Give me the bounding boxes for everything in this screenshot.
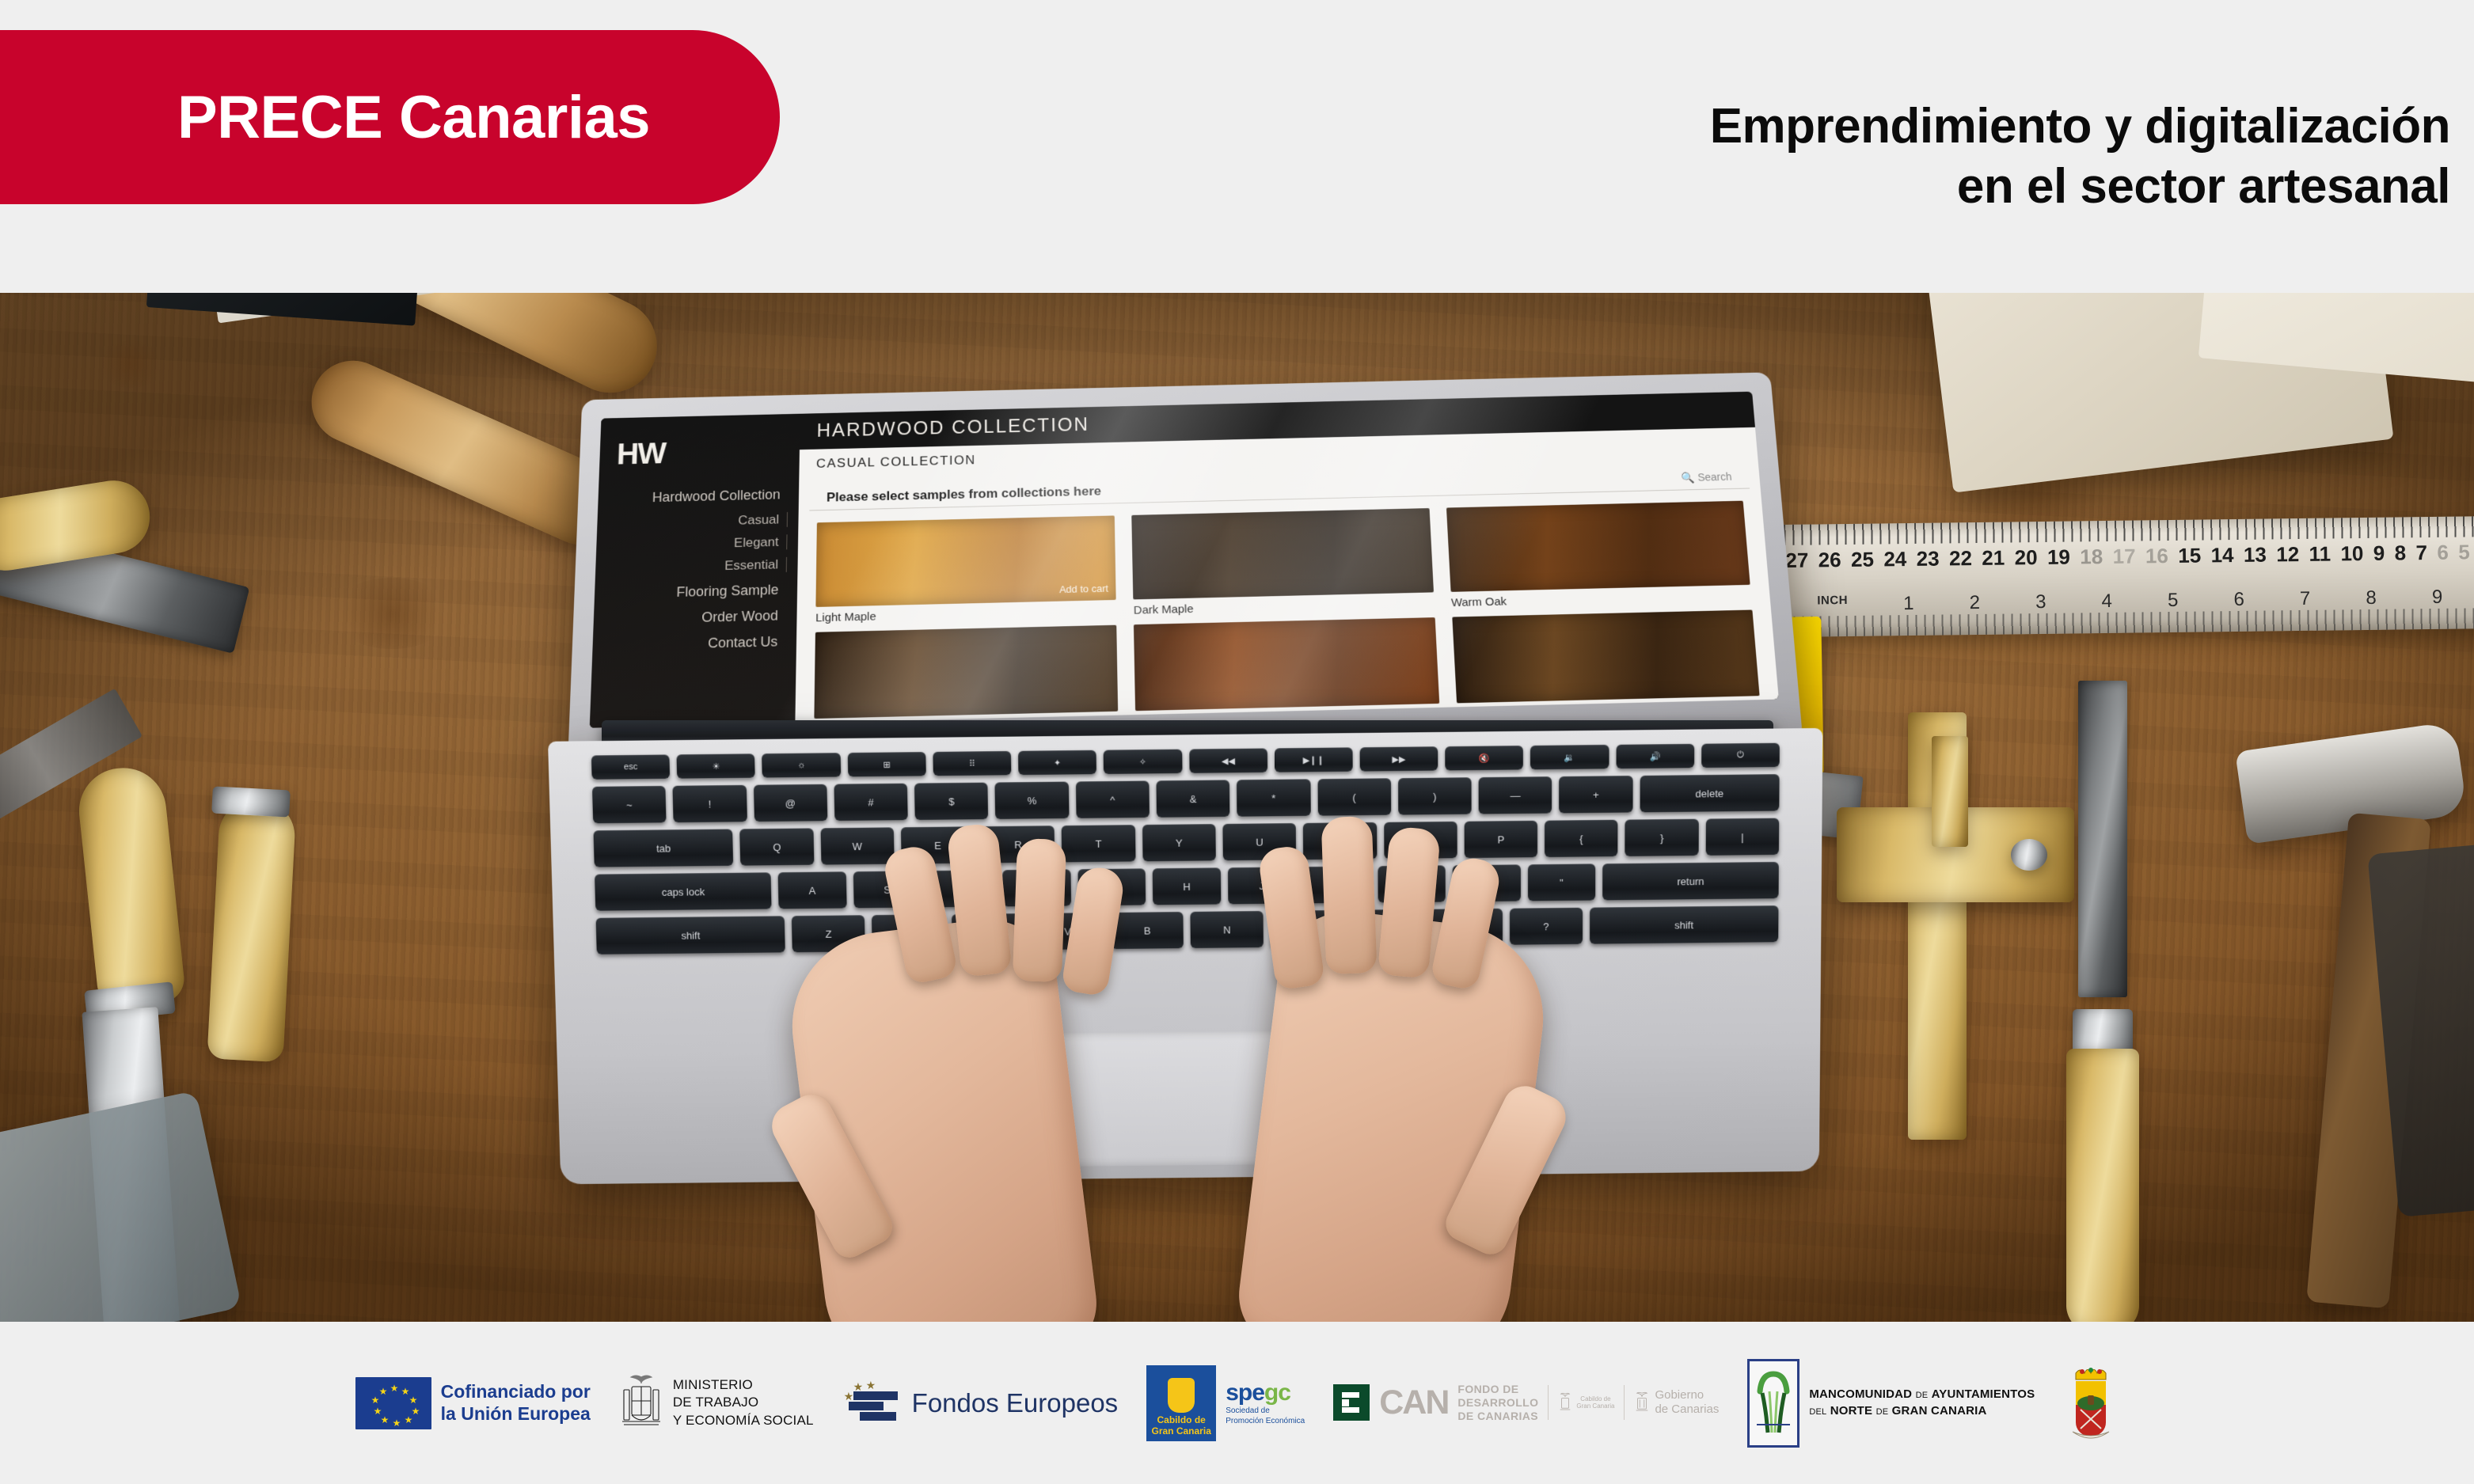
spegc-text: spegc Sociedad de Promoción Económica [1226, 1380, 1305, 1426]
mancomunidad-l2a: DEL [1809, 1407, 1826, 1417]
keyboard-bottom-row: shift Z X C V B N M < > ? shift [596, 905, 1779, 955]
key-backslash[interactable]: | [1705, 818, 1779, 856]
ruler-cm-tick: 22 [1949, 546, 1972, 571]
chisel-handle-right [2066, 1049, 2139, 1322]
key-q[interactable]: Q [739, 828, 814, 865]
eu-logo-line1: Cofinanciado por [441, 1381, 591, 1403]
sample-label: Warm Oak [1451, 590, 1752, 609]
key-6[interactable]: ^ [1076, 780, 1150, 818]
left-hand-finger [1013, 838, 1066, 982]
site-instruction: Please select samples from collections h… [827, 484, 1101, 505]
fdcan-mini1: Cabildo de [1576, 1395, 1614, 1402]
key-return[interactable]: return [1602, 862, 1779, 901]
key-f12-volume-up-icon[interactable]: 🔊 [1616, 744, 1694, 769]
key-quote[interactable]: " [1527, 863, 1595, 901]
mancomunidad-l2c: DE [1876, 1407, 1889, 1417]
key-1[interactable]: ! [673, 785, 747, 822]
brand-badge: PRECE Canarias [0, 30, 780, 204]
key-f11-volume-down-icon[interactable]: 🔉 [1530, 745, 1609, 769]
cabildo-gran-canaria-icon: Cabildo de Gran Canaria [1146, 1365, 1216, 1441]
ruler-cm-tick: 11 [2309, 542, 2331, 567]
ruler-cm-tick: 17 [2112, 545, 2135, 569]
gobierno-canarias-text: Gobierno de Canarias [1655, 1388, 1719, 1417]
ruler-cm-tick: 7 [2415, 541, 2427, 565]
key-2[interactable]: @ [753, 784, 827, 822]
sample-label: Ash [1457, 700, 1761, 721]
logo-escudo-municipal [2063, 1364, 2119, 1443]
page-title: Emprendimiento y digitalización en el se… [1184, 97, 2450, 216]
ruler-inch-tick: 2 [1969, 592, 1980, 614]
mancomunidad-l1c: AYUNTAMIENTOS [1932, 1387, 2035, 1401]
poster-page: PRECE Canarias Emprendimiento y digitali… [0, 0, 2474, 1484]
fdcan-subtext: FONDO DE DESARROLLO DE CANARIAS [1457, 1383, 1538, 1422]
dragon-tree-icon [1755, 1368, 1792, 1437]
sample-card[interactable]: Ash [1452, 610, 1761, 722]
key-f9-forward-icon[interactable]: ▶▶ [1360, 746, 1438, 771]
key-equal[interactable]: + [1559, 776, 1632, 813]
spegc-gc: gc [1264, 1380, 1290, 1406]
page-title-line2: en el sector artesanal [1184, 157, 2450, 217]
mancomunidad-l2b: NORTE [1830, 1404, 1873, 1418]
key-f4-launchpad-icon[interactable]: ⠿ [933, 751, 1011, 776]
keyboard-qwerty-row: tab Q W E R T Y U I O P { } | [593, 818, 1779, 867]
fdcan-sub2: DESARROLLO [1457, 1396, 1538, 1410]
search-input[interactable]: 🔍 Search [1681, 470, 1732, 484]
search-icon: 🔍 [1681, 471, 1695, 483]
sample-card[interactable]: Dark Maple [1132, 508, 1435, 617]
ministerio-line2: DE TRABAJO [673, 1394, 814, 1411]
ruler-cm-tick: 21 [1982, 546, 2005, 571]
fdcan-sub1: FONDO DE [1457, 1383, 1538, 1396]
key-3[interactable]: # [834, 784, 908, 821]
key-power-icon[interactable]: ⏻ [1701, 743, 1780, 768]
gobierno-canarias-block: Gobierno de Canarias [1634, 1388, 1719, 1417]
key-7[interactable]: & [1156, 780, 1229, 817]
right-hand-finger [1321, 816, 1378, 974]
add-to-cart-button[interactable]: Add to cart [1059, 583, 1108, 595]
brand-badge-label: PRECE Canarias [177, 83, 650, 152]
ruler-cm-tick: 9 [2373, 541, 2385, 566]
sample-card[interactable]: Walnut [814, 625, 1119, 728]
sample-label: Light Maple [815, 605, 1116, 624]
search-placeholder: Search [1697, 470, 1732, 483]
key-f7-rewind-icon[interactable]: ◀◀ [1189, 748, 1267, 772]
cabildo-mini-icon [1558, 1391, 1572, 1414]
site-content: HARDWOOD COLLECTION CASUAL COLLECTION Pl… [795, 392, 1779, 723]
gobierno-line1: Gobierno [1655, 1388, 1719, 1402]
sample-card[interactable]: Warm Oak [1446, 501, 1752, 609]
key-tab[interactable]: tab [593, 829, 733, 867]
key-shift-left[interactable]: shift [596, 916, 786, 955]
chisel-ferrule-2 [211, 786, 291, 817]
ruler-cm-tick: 10 [2340, 541, 2363, 566]
sample-swatch[interactable] [814, 625, 1118, 719]
eu-logo-text: Cofinanciado por la Unión Europea [441, 1381, 591, 1425]
laptop-base: esc ☀ ☼ ⊞ ⠿ ✦ ✧ ◀◀ ▶❙❙ ▶▶ 🔇 🔉 🔊 ⏻ ~ [548, 728, 1822, 1184]
divider [1548, 1385, 1549, 1420]
sample-card[interactable]: Add to cart Light Maple [815, 515, 1116, 624]
sidebar-item-casual[interactable]: Casual [608, 512, 788, 531]
logo-mancomunidad-norte: MANCOMUNIDAD DE AYUNTAMIENTOS DEL NORTE … [1747, 1359, 2035, 1448]
cabildo-line2: Gran Canaria [1152, 1426, 1211, 1437]
chisel-handle-yellow [207, 798, 296, 1063]
ruler-cm-tick: 24 [1883, 547, 1906, 571]
sample-card[interactable]: Cherry [1134, 617, 1440, 728]
key-a[interactable]: A [778, 871, 847, 909]
ruler-cm-tick: 5 [2458, 540, 2470, 564]
sample-swatch[interactable] [1452, 610, 1760, 704]
key-shift-right[interactable]: shift [1590, 905, 1779, 944]
ruler-cm-tick: 25 [1851, 548, 1874, 572]
keyboard-number-row: ~ ! @ # $ % ^ & * ( ) — + delete [592, 774, 1780, 823]
logo-fondos-europeos: ★ ★ ★ Fondos Europeos [842, 1379, 1119, 1428]
municipal-shield-icon [2063, 1364, 2119, 1443]
sample-swatch[interactable] [1446, 501, 1750, 592]
ruler-cm-tick: 15 [2178, 544, 2201, 568]
key-f10-mute-icon[interactable]: 🔇 [1445, 746, 1523, 770]
key-p[interactable]: P [1464, 821, 1537, 858]
laptop-lid: HW Hardwood Collection Casual Elegant Es… [568, 372, 1803, 763]
eu-logo-line2: la Unión Europea [441, 1403, 591, 1425]
ruler-cm-tick: 8 [2394, 541, 2406, 565]
key-delete[interactable]: delete [1640, 774, 1779, 812]
key-n[interactable]: N [1191, 911, 1264, 948]
cabildo-line1: Cabildo de [1157, 1415, 1206, 1426]
chisel-ferrule-right [2073, 1009, 2133, 1053]
ruler-cm-tick: 19 [2047, 545, 2070, 570]
key-9[interactable]: ( [1317, 778, 1391, 815]
fdcan-sub3: DE CANARIAS [1457, 1410, 1538, 1423]
ruler-cm-tick: 16 [2145, 544, 2168, 568]
key-5[interactable]: % [995, 782, 1069, 819]
ruler-inch-tick: 4 [2101, 590, 2112, 613]
logo-cofinanciado-union-europea: ★ ★ ★ ★ ★ ★ ★ ★ ★ ★ Cofinanciado por la … [355, 1377, 591, 1429]
site-logo: HW [616, 435, 789, 472]
sidebar-item-flooring-sample[interactable]: Flooring Sample [606, 582, 787, 602]
ruler-cm-tick: 26 [1818, 548, 1841, 572]
fdcan-mini2: Gran Canaria [1576, 1402, 1614, 1410]
key-esc[interactable]: esc [591, 754, 671, 779]
ruler-inch-tick: 1 [1903, 593, 1914, 615]
key-minus[interactable]: — [1479, 776, 1552, 814]
key-b[interactable]: B [1111, 912, 1184, 949]
ruler-inch-label: INCH [1817, 594, 1848, 616]
sidebar-item-contact-us[interactable]: Contact Us [603, 634, 785, 655]
fdcan-cabildo-mini: Cabildo de Gran Canaria [1558, 1391, 1614, 1414]
key-f8-playpause-icon[interactable]: ▶❙❙ [1275, 747, 1353, 772]
ruler-cm-tick: 13 [2244, 543, 2267, 567]
mancomunidad-line1: MANCOMUNIDAD DE AYUNTAMIENTOS [1809, 1387, 2035, 1402]
sample-swatch[interactable] [1134, 617, 1439, 711]
fdcan-mark-icon [1333, 1384, 1370, 1421]
mancomunidad-l1a: MANCOMUNIDAD [1809, 1387, 1912, 1401]
mancomunidad-line2: DEL NORTE DE GRAN CANARIA [1809, 1403, 2035, 1419]
ruler-cm-tick: 6 [2437, 541, 2449, 565]
ruler-inch-tick: 6 [2233, 589, 2244, 611]
ruler-cm-tick: 14 [2210, 543, 2233, 567]
spegc-spe: spe [1226, 1380, 1264, 1406]
mancomunidad-l1b: DE [1916, 1391, 1929, 1400]
laptop-screen[interactable]: HW Hardwood Collection Casual Elegant Es… [590, 392, 1779, 728]
ministerio-text: MINISTERIO DE TRABAJO Y ECONOMÍA SOCIAL [673, 1376, 814, 1429]
spegc-sub2: Promoción Económica [1226, 1417, 1305, 1427]
sidebar-item-hardwood-collection[interactable]: Hardwood Collection [609, 487, 789, 507]
key-f1-brightness-down-icon[interactable]: ☀ [677, 753, 755, 778]
key-t[interactable]: T [1062, 825, 1135, 862]
key-w[interactable]: W [820, 827, 895, 864]
key-tilde[interactable]: ~ [592, 786, 667, 823]
divider [1624, 1385, 1625, 1420]
key-bracket-right[interactable]: } [1625, 819, 1699, 856]
mancomunidad-icon [1747, 1359, 1799, 1448]
key-8[interactable]: * [1237, 779, 1310, 816]
ruler-cm-tick: 18 [2080, 545, 2103, 569]
key-f3-mission-control-icon[interactable]: ⊞ [847, 752, 925, 776]
keyboard-home-row: caps lock A S D F G H J K L : " return [595, 862, 1779, 911]
gobierno-line2: de Canarias [1655, 1402, 1719, 1417]
ruler-inch-tick: 5 [2168, 590, 2179, 612]
site-sidebar: HW Hardwood Collection Casual Elegant Es… [590, 414, 800, 728]
ruler-inch-tick: 8 [2366, 587, 2377, 609]
logo-cabildo-spegc: Cabildo de Gran Canaria spegc Sociedad d… [1146, 1365, 1305, 1441]
ruler-cm-tick: 27 [1785, 548, 1808, 573]
ruler-cm-tick: 12 [2276, 542, 2299, 567]
logo-ministerio-trabajo: MINISTERIO DE TRABAJO Y ECONOMÍA SOCIAL [619, 1372, 814, 1434]
ruler-cm-tick: 20 [2014, 545, 2037, 570]
sample-swatch[interactable]: Add to cart [815, 515, 1116, 607]
sample-label: Dark Maple [1134, 597, 1435, 617]
fdcan-wordmark: CAN [1379, 1383, 1448, 1422]
key-bracket-left[interactable]: { [1545, 820, 1618, 857]
fondos-europeos-icon: ★ ★ ★ [842, 1379, 903, 1428]
spegc-wordmark: spegc [1226, 1380, 1305, 1406]
header: PRECE Canarias Emprendimiento y digitali… [0, 0, 2474, 293]
sample-swatch[interactable] [1132, 508, 1434, 599]
mancomunidad-text: MANCOMUNIDAD DE AYUNTAMIENTOS DEL NORTE … [1809, 1387, 2035, 1419]
sidebar-item-essential[interactable]: Essential [606, 557, 787, 576]
chisel-blade-right [2078, 681, 2127, 997]
marking-gauge-thumbscrew [2011, 839, 2047, 871]
ministerio-line1: MINISTERIO [673, 1376, 814, 1394]
footer-logos: ★ ★ ★ ★ ★ ★ ★ ★ ★ ★ Cofinanciado por la … [0, 1322, 2474, 1484]
hero-photo: 29 28 27 26 25 24 23 22 21 20 19 18 17 1… [0, 293, 2474, 1322]
spain-coat-of-arms-icon [619, 1372, 663, 1434]
gobierno-canarias-icon [1634, 1391, 1650, 1414]
spegc-sub1: Sociedad de [1226, 1406, 1305, 1417]
ruler-inch-tick: 7 [2300, 588, 2311, 610]
marking-gauge-stop [1932, 736, 1968, 847]
ruler-inch-tick: 3 [2035, 591, 2046, 613]
sidebar-item-order-wood[interactable]: Order Wood [604, 608, 786, 628]
key-0[interactable]: ) [1398, 777, 1472, 814]
key-caps-lock[interactable]: caps lock [595, 872, 772, 910]
logo-fdcan: CAN FONDO DE DESARROLLO DE CANARIAS Cabi… [1333, 1383, 1719, 1422]
fdcan-mini-text: Cabildo de Gran Canaria [1576, 1395, 1614, 1410]
ruler-cm-tick: 23 [1916, 547, 1939, 571]
ministerio-line3: Y ECONOMÍA SOCIAL [673, 1412, 814, 1429]
mancomunidad-l2d: GRAN CANARIA [1892, 1404, 1987, 1418]
fondos-europeos-text: Fondos Europeos [912, 1388, 1119, 1418]
ruler-inch-tick: 9 [2432, 586, 2443, 609]
keyboard-fn-row: esc ☀ ☼ ⊞ ⠿ ✦ ✧ ◀◀ ▶❙❙ ▶▶ 🔇 🔉 🔊 ⏻ [591, 743, 1780, 780]
sidebar-item-elegant[interactable]: Elegant [607, 534, 788, 553]
cabildo-crest-icon [1168, 1378, 1195, 1413]
key-f5-keyboard-dim-icon[interactable]: ✦ [1018, 750, 1096, 775]
key-f2-brightness-up-icon[interactable]: ☼ [762, 753, 841, 777]
key-slash[interactable]: ? [1510, 908, 1583, 945]
key-h[interactable]: H [1153, 867, 1221, 905]
key-f6-keyboard-bright-icon[interactable]: ✧ [1104, 750, 1182, 774]
sample-grid: Add to cart Light Maple Dark Maple Warm … [795, 488, 1779, 728]
key-y[interactable]: Y [1142, 824, 1216, 861]
key-4[interactable]: $ [914, 783, 988, 820]
page-title-line1: Emprendimiento y digitalización [1710, 99, 2450, 154]
eu-flag-icon: ★ ★ ★ ★ ★ ★ ★ ★ ★ ★ [355, 1377, 431, 1429]
